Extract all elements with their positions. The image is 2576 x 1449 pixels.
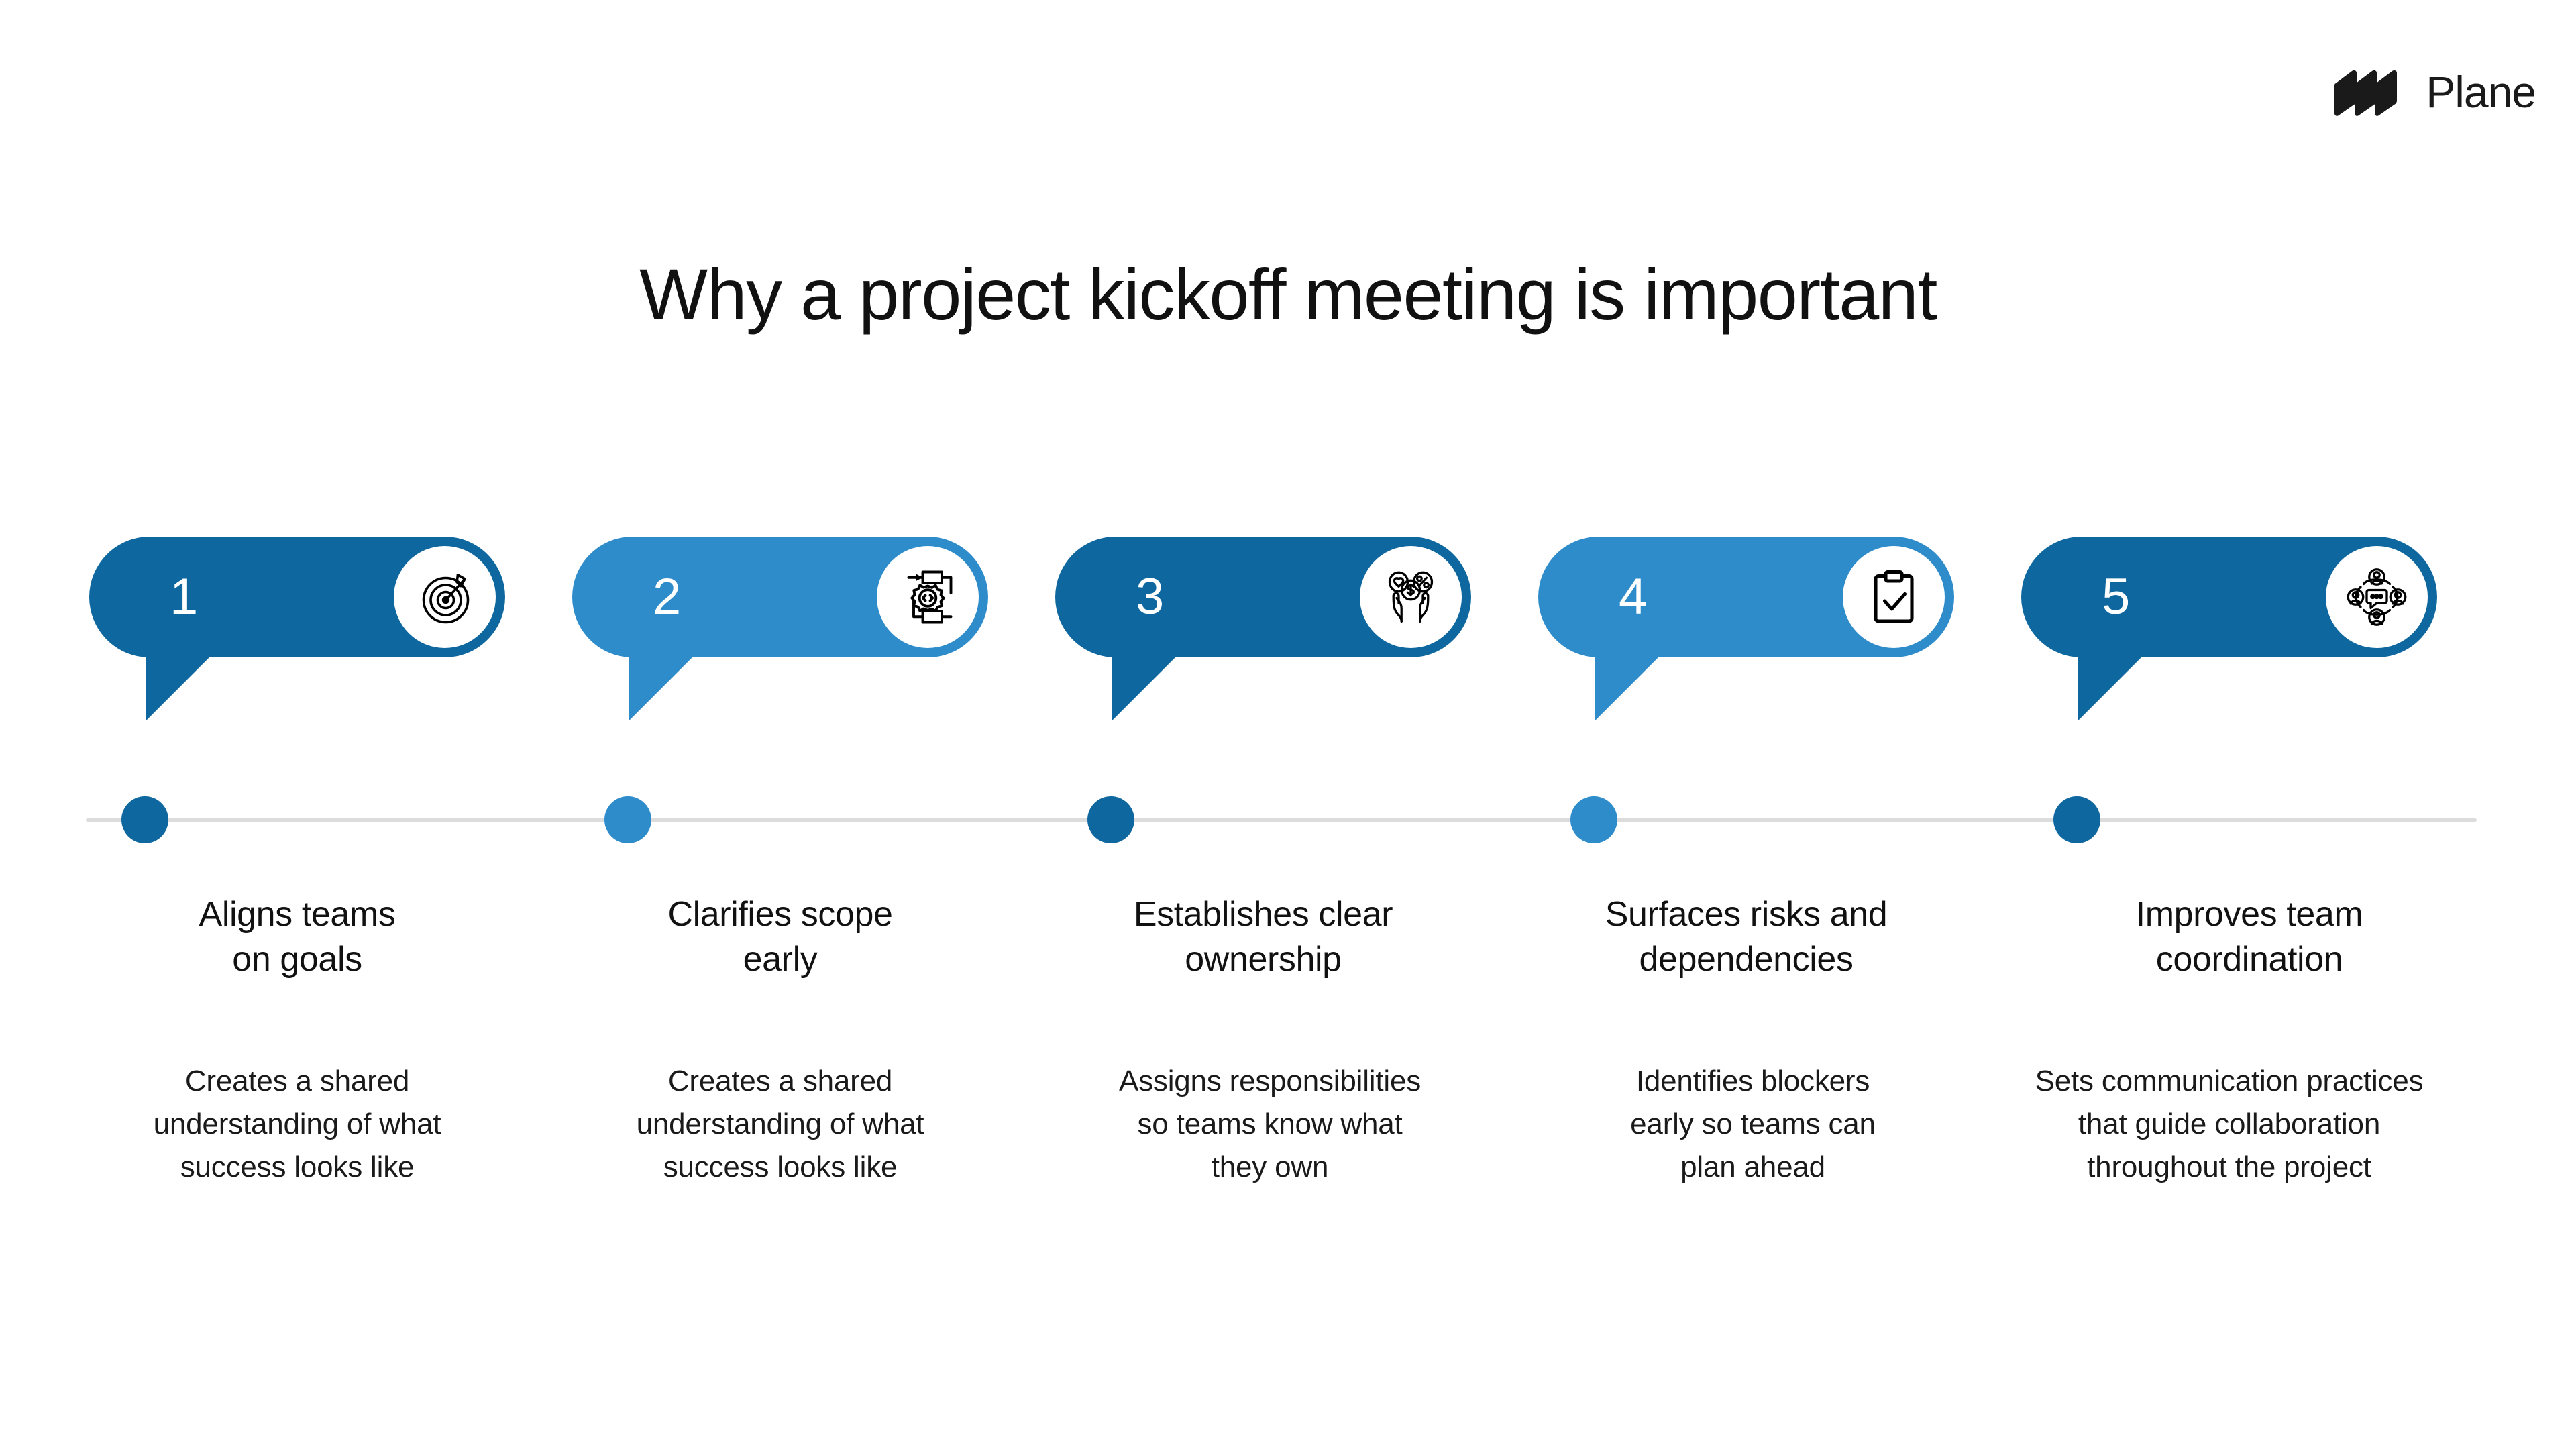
timeline-step-1: 1	[89, 0, 572, 1449]
step-bubble[interactable]: 2	[572, 537, 988, 657]
step-body-line: success looks like	[180, 1150, 415, 1183]
step-body-line: Assigns responsibilities	[1119, 1065, 1421, 1097]
step-heading-line: Aligns teams	[199, 895, 396, 934]
step-heading-line: dependencies	[1639, 940, 1853, 979]
target-arrow-icon	[394, 546, 496, 648]
step-bubble-tail	[1112, 654, 1179, 721]
step-heading: Improves team coordination	[2015, 892, 2484, 981]
clipboard-check-icon	[1843, 546, 1945, 648]
timeline-step-4: 4 Surfaces risks and dependencies	[1538, 0, 2021, 1449]
step-body-line: plan ahead	[1680, 1150, 1825, 1183]
timeline-dot[interactable]	[2053, 796, 2100, 843]
timeline-dot[interactable]	[1570, 796, 1617, 843]
step-bubble-tail	[629, 654, 696, 721]
step-heading-line: Improves team	[2136, 895, 2363, 934]
step-bubble-tail	[146, 654, 213, 721]
step-body-line: Creates a shared	[185, 1065, 409, 1097]
hands-holding-coins-icon	[1360, 546, 1462, 648]
timeline-dot[interactable]	[121, 796, 168, 843]
timeline-dot[interactable]	[1087, 796, 1134, 843]
step-heading-line: Establishes clear	[1134, 895, 1393, 934]
step-number: 1	[170, 572, 198, 623]
step-number: 3	[1136, 572, 1164, 623]
step-bubble[interactable]: 3	[1055, 537, 1471, 657]
step-body-line: Identifies blockers	[1636, 1065, 1870, 1097]
step-bubble[interactable]: 4	[1538, 537, 1954, 657]
timeline-dot[interactable]	[604, 796, 651, 843]
step-number: 4	[1619, 572, 1647, 623]
step-body-line: that guide collaboration	[2078, 1108, 2380, 1140]
step-number: 5	[2102, 572, 2130, 623]
step-heading-line: Surfaces risks and	[1605, 895, 1888, 934]
step-heading-line: early	[743, 940, 818, 979]
step-body-line: Creates a shared	[668, 1065, 892, 1097]
step-body-line: understanding of what	[637, 1108, 924, 1140]
step-body: Creates a shared understanding of what s…	[49, 1060, 545, 1188]
timeline-steps: 1	[0, 0, 2576, 1449]
step-bubble[interactable]: 5	[2021, 537, 2437, 657]
step-body-line: throughout the project	[2087, 1150, 2371, 1183]
step-body: Creates a shared understanding of what s…	[532, 1060, 1028, 1188]
timeline-step-3: 3	[1055, 0, 1538, 1449]
step-body: Identifies blockers early so teams can p…	[1511, 1060, 1994, 1188]
step-heading-line: ownership	[1185, 940, 1341, 979]
infographic-canvas: Plane Why a project kickoff meeting is i…	[0, 0, 2576, 1449]
step-heading: Aligns teams on goals	[62, 892, 532, 981]
timeline-step-2: 2	[572, 0, 1055, 1449]
timeline-step-5: 5	[2021, 0, 2504, 1449]
step-number: 2	[653, 572, 681, 623]
step-body: Assigns responsibilities so teams know w…	[1028, 1060, 1511, 1188]
step-bubble-tail	[1595, 654, 1662, 721]
step-body-line: Sets communication practices	[2035, 1065, 2424, 1097]
step-heading-line: coordination	[2156, 940, 2343, 979]
step-bubble[interactable]: 1	[89, 537, 505, 657]
step-heading: Establishes clear ownership	[1028, 892, 1498, 981]
team-collaboration-network-icon	[2326, 546, 2428, 648]
step-heading-line: on goals	[232, 940, 362, 979]
step-body-line: success looks like	[663, 1150, 898, 1183]
step-heading: Surfaces risks and dependencies	[1511, 892, 1981, 981]
step-body: Sets communication practices that guide …	[1947, 1060, 2511, 1188]
step-body-line: early so teams can	[1630, 1108, 1876, 1140]
step-body-line: so teams know what	[1137, 1108, 1402, 1140]
workflow-gear-icon	[877, 546, 979, 648]
step-body-line: understanding of what	[154, 1108, 441, 1140]
step-heading-line: Clarifies scope	[667, 895, 892, 934]
step-body-line: they own	[1212, 1150, 1329, 1183]
step-heading: Clarifies scope early	[545, 892, 1015, 981]
step-bubble-tail	[2078, 654, 2145, 721]
